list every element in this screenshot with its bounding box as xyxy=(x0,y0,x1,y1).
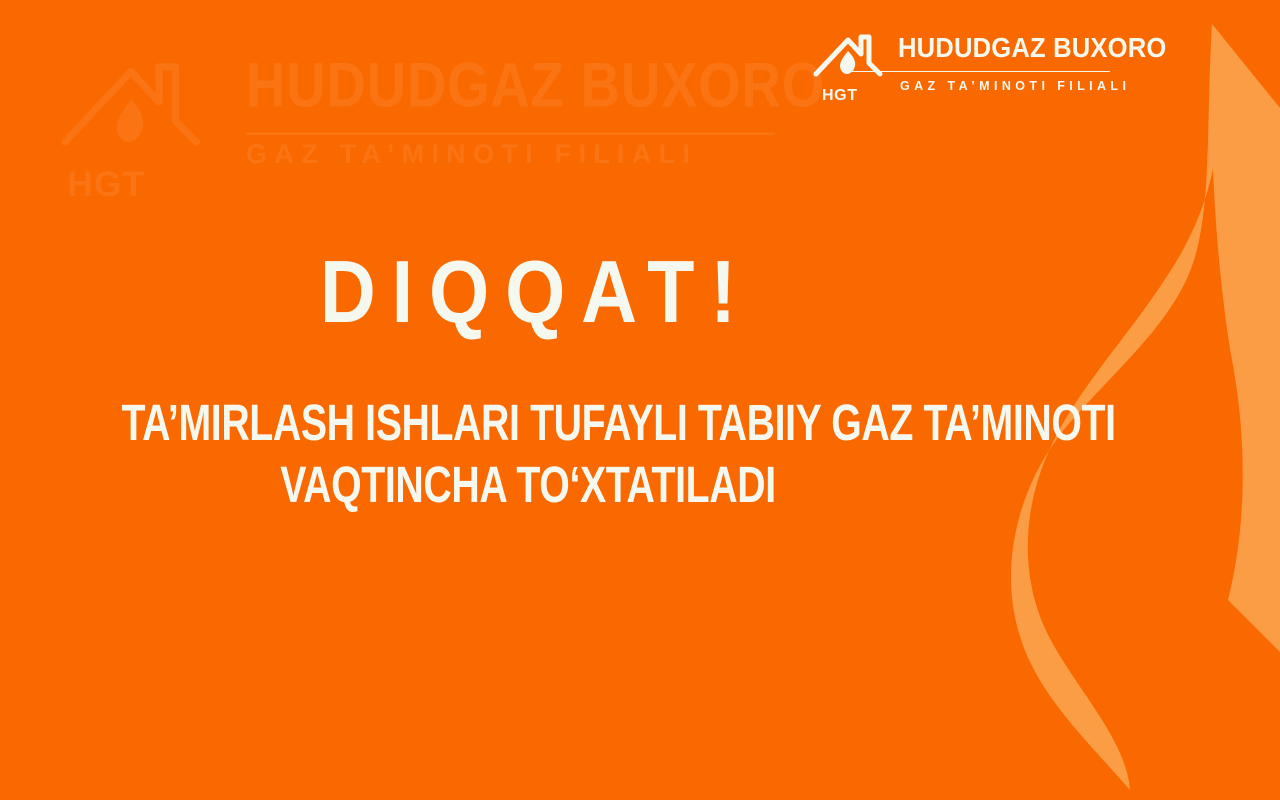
watermark-title: HUDUDGAZ BUXORO xyxy=(246,49,825,122)
brand-title: HUDUDGAZ BUXORO xyxy=(898,34,1166,62)
announcement-block: DIQQAT! TA’MIRLASH ISHLARI TUFAYLI TABII… xyxy=(0,248,1056,515)
watermark-divider xyxy=(246,131,775,133)
watermark-subtitle: GAZ TA’MINOTI FILIALI xyxy=(246,141,919,169)
watermark-house-with-flame-icon: HGT xyxy=(58,48,204,170)
house-with-flame-icon: HGT xyxy=(812,28,884,106)
brand-mark-text: HGT xyxy=(822,88,858,104)
announcement-message: TA’MIRLASH ISHLARI TUFAYLI TABIIY GAZ TA… xyxy=(0,392,1056,515)
brand-subtitle: GAZ TA’MINOTI FILIALI xyxy=(898,80,1187,93)
brand-logo: HGT HUDUDGAZ BUXORO GAZ TA’MINOTI FILIAL… xyxy=(812,28,1187,106)
announcement-poster: HGT HUDUDGAZ BUXORO GAZ TA’MINOTI FILIAL… xyxy=(0,0,1280,800)
watermark-mark-text: HGT xyxy=(67,166,145,206)
announcement-message-line-2: VAQTINCHA TOʻXTATILADI xyxy=(121,454,934,516)
watermark: HGT HUDUDGAZ BUXORO GAZ TA’MINOTI FILIAL… xyxy=(58,48,758,198)
announcement-message-line-1: TA’MIRLASH ISHLARI TUFAYLI TABIIY GAZ TA… xyxy=(121,392,934,454)
announcement-headline: DIQQAT! xyxy=(63,248,992,336)
brand-divider xyxy=(852,71,1110,73)
